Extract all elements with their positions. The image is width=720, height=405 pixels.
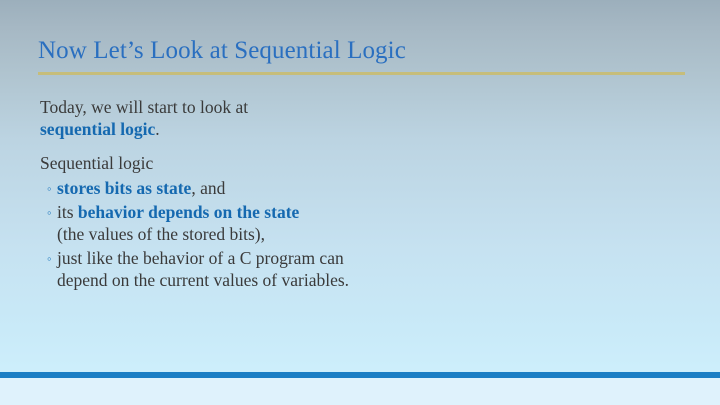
circle-outline-bullet-icon: ◦ bbox=[47, 248, 52, 270]
slide-footer: ECE 120: Introduction to Computing © 201… bbox=[0, 378, 720, 405]
list-item: ◦ stores bits as state, and bbox=[40, 178, 680, 200]
bullet-2-line-2: (the values of the stored bits), bbox=[57, 224, 680, 246]
lead-in-paragraph: Sequential logic bbox=[40, 153, 680, 175]
intro-emphasis: sequential logic bbox=[40, 119, 155, 139]
bullet-1-line-1: stores bits as state, and bbox=[57, 178, 680, 200]
intro-line-1: Today, we will start to look at bbox=[40, 97, 248, 117]
bullet-2-emphasis: behavior depends on the state bbox=[78, 202, 299, 222]
bullet-3-line-1: just like the behavior of a C program ca… bbox=[57, 248, 680, 270]
bullet-list: ◦ stores bits as state, and ◦ its behavi… bbox=[40, 178, 680, 292]
list-item: ◦ just like the behavior of a C program … bbox=[40, 248, 680, 291]
bullet-1-tail: , and bbox=[191, 178, 225, 198]
bullet-1-emphasis: stores bits as state bbox=[57, 178, 191, 198]
circle-outline-bullet-icon: ◦ bbox=[47, 178, 52, 200]
slide-canvas: Now Let’s Look at Sequential Logic Today… bbox=[0, 0, 720, 405]
bullet-3-line-2: depend on the current values of variable… bbox=[57, 270, 680, 292]
slide-body: Today, we will start to look at sequenti… bbox=[40, 97, 680, 291]
bullet-2-head: its bbox=[57, 202, 78, 222]
list-item: ◦ its behavior depends on the state (the… bbox=[40, 202, 680, 245]
circle-outline-bullet-icon: ◦ bbox=[47, 202, 52, 224]
slide-title: Now Let’s Look at Sequential Logic bbox=[38, 36, 406, 66]
intro-line-2-tail: . bbox=[155, 119, 159, 139]
title-divider-rule bbox=[38, 72, 685, 75]
intro-paragraph: Today, we will start to look at sequenti… bbox=[40, 97, 680, 140]
bullet-2-line-1: its behavior depends on the state bbox=[57, 202, 680, 224]
